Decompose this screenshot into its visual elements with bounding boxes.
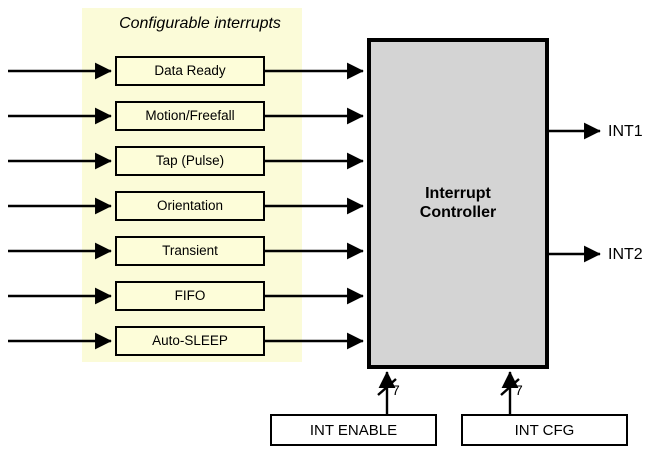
source-box-orientation[interactable]: Orientation — [115, 191, 265, 221]
source-box-data-ready[interactable]: Data Ready — [115, 56, 265, 86]
source-box-auto-sleep[interactable]: Auto-SLEEP — [115, 326, 265, 356]
source-box-fifo[interactable]: FIFO — [115, 281, 265, 311]
output-label-int2: INT2 — [608, 246, 643, 264]
register-box-int-cfg[interactable]: INT CFG — [461, 414, 628, 446]
source-box-tap-pulse[interactable]: Tap (Pulse) — [115, 146, 265, 176]
output-label-int1: INT1 — [608, 123, 643, 141]
source-box-transient[interactable]: Transient — [115, 236, 265, 266]
interrupt-controller-label: Interrupt Controller — [420, 185, 496, 222]
interrupt-controller-diagram: Configurable interrupts — [0, 0, 668, 452]
bus-width-label-int-cfg: 7 — [515, 382, 523, 398]
interrupt-controller-block[interactable]: Interrupt Controller — [367, 38, 549, 369]
register-box-int-enable[interactable]: INT ENABLE — [270, 414, 437, 446]
bus-width-label-int-enable: 7 — [392, 382, 400, 398]
connector-lines-layer — [0, 0, 668, 452]
source-box-motion-freefall[interactable]: Motion/Freefall — [115, 101, 265, 131]
